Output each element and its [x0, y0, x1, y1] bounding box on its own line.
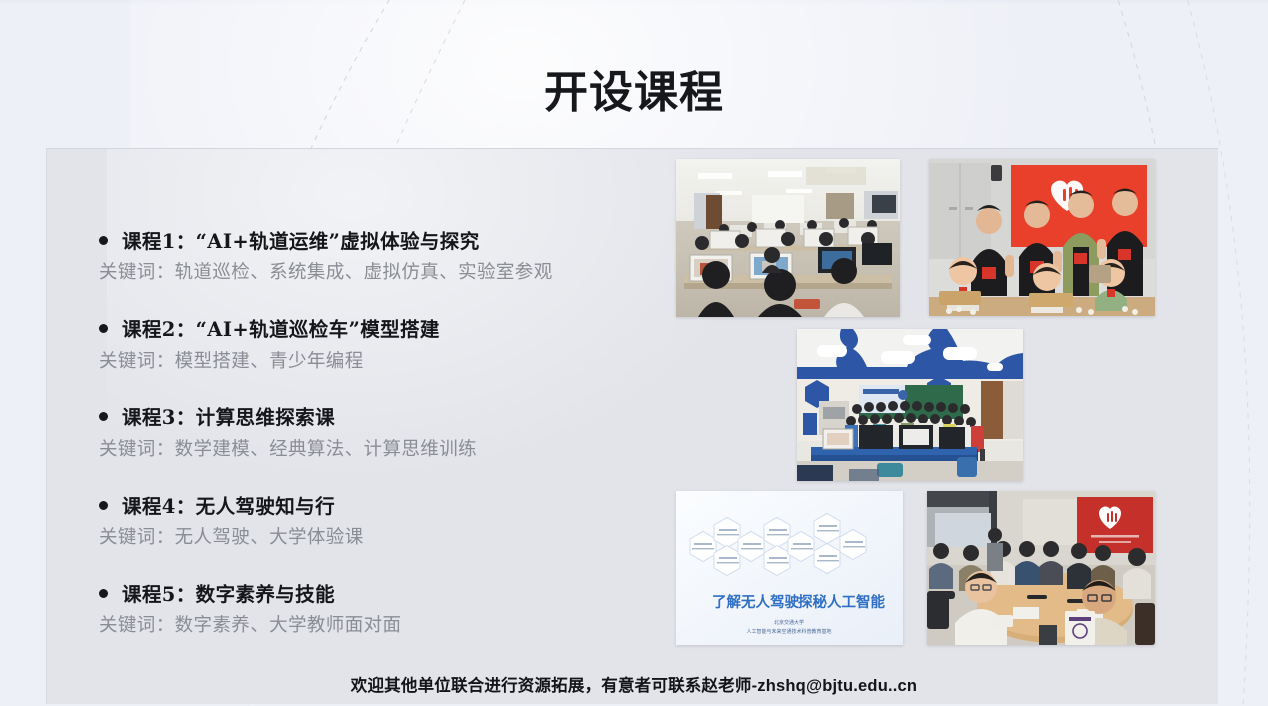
bullet-icon [99, 324, 108, 333]
page-title: 开设课程 [0, 56, 1268, 120]
classroom-group-photo [797, 329, 1023, 481]
course-keywords: 关键词：无人驾驶、大学体验课 [99, 525, 699, 551]
course-list: 课程1：“AI+轨道运维”虚拟体验与探究 关键词：轨道巡检、系统集成、虚拟仿真、… [99, 229, 699, 639]
presentation-slide-photo: 了解无人驾驶 探秘人工智能 北京交通大学 人工智能与未来空通技术科普教育基地 [676, 491, 903, 645]
course-keywords: 关键词：轨道巡检、系统集成、虚拟仿真、实验室参观 [99, 260, 699, 286]
course-title-text: 课程4：无人驾驶知与行 [122, 494, 335, 520]
computer-lab-classroom-photo [676, 159, 900, 317]
course-title-row: 课程4：无人驾驶知与行 [99, 494, 699, 520]
course-title-row: 课程2：“AI+轨道巡检车”模型搭建 [99, 317, 699, 343]
footer-contact-note: 欢迎其他单位联合进行资源拓展，有意者可联系赵老师-zhshq@bjtu.edu.… [0, 672, 1268, 696]
course-item: 课程3：计算思维探索课 关键词：数学建模、经典算法、计算思维训练 [99, 405, 699, 462]
volunteer-team-red-banner-photo [929, 159, 1155, 316]
course-item: 课程4：无人驾驶知与行 关键词：无人驾驶、大学体验课 [99, 494, 699, 551]
svg-text:探秘人工智能: 探秘人工智能 [798, 593, 885, 611]
content-card: 课程1：“AI+轨道运维”虚拟体验与探究 关键词：轨道巡检、系统集成、虚拟仿真、… [46, 148, 1218, 704]
course-keywords: 关键词：模型搭建、青少年编程 [99, 349, 699, 375]
course-title-text: 课程1：“AI+轨道运维”虚拟体验与探究 [122, 229, 480, 255]
course-item: 课程2：“AI+轨道巡检车”模型搭建 关键词：模型搭建、青少年编程 [99, 317, 699, 374]
course-item: 课程1：“AI+轨道运维”虚拟体验与探究 关键词：轨道巡检、系统集成、虚拟仿真、… [99, 229, 699, 286]
bullet-icon [99, 412, 108, 421]
bullet-icon [99, 589, 108, 598]
svg-text:了解无人驾驶: 了解无人驾驶 [712, 593, 799, 611]
course-title-text: 课程3：计算思维探索课 [122, 405, 335, 431]
course-title-row: 课程5：数字素养与技能 [99, 582, 699, 608]
course-item: 课程5：数字素养与技能 关键词：数字素养、大学教师面对面 [99, 582, 699, 639]
svg-text:北京交通大学: 北京交通大学 [774, 619, 804, 626]
course-keywords: 关键词：数学建模、经典算法、计算思维训练 [99, 437, 699, 463]
bullet-icon [99, 501, 108, 510]
course-title-row: 课程3：计算思维探索课 [99, 405, 699, 431]
course-title-row: 课程1：“AI+轨道运维”虚拟体验与探究 [99, 229, 699, 255]
top-edge-strip [0, 0, 1268, 5]
course-title-text: 课程5：数字素养与技能 [122, 582, 335, 608]
workshop-roundtable-photo [927, 491, 1155, 645]
course-title-text: 课程2：“AI+轨道巡检车”模型搭建 [122, 317, 440, 343]
course-keywords: 关键词：数字素养、大学教师面对面 [99, 613, 699, 639]
svg-text:人工智能与未来空通技术科普教育基地: 人工智能与未来空通技术科普教育基地 [746, 628, 831, 635]
bullet-icon [99, 236, 108, 245]
